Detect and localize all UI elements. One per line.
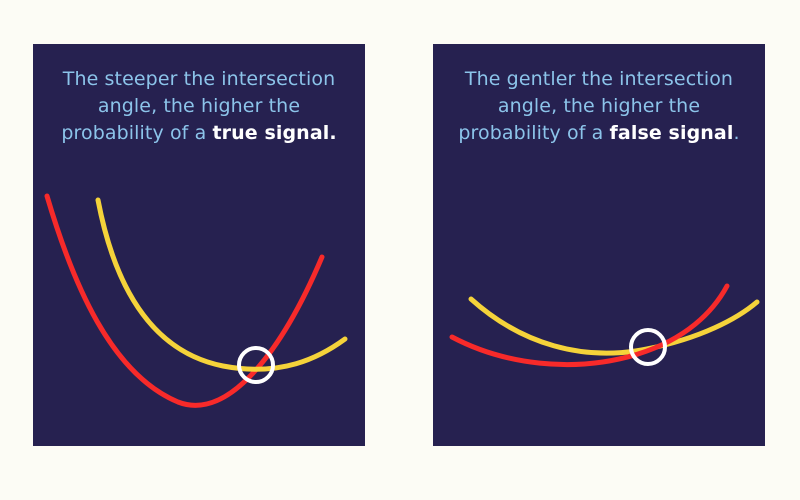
red-curve <box>47 196 322 405</box>
panel-steep-intersection: The steeper the intersection angle, the … <box>33 44 365 446</box>
caption-trail-text: . <box>733 122 739 144</box>
caption-emphasis-text: true signal. <box>212 122 336 144</box>
panel-caption-gentle: The gentler the intersection angle, the … <box>433 66 765 147</box>
panel-caption-steep: The steeper the intersection angle, the … <box>33 66 365 147</box>
intersection-marker <box>239 348 273 382</box>
caption-emphasis-text: false signal <box>610 122 734 144</box>
panel-gentle-intersection: The gentler the intersection angle, the … <box>433 44 765 446</box>
infographic-canvas: The steeper the intersection angle, the … <box>0 0 800 500</box>
